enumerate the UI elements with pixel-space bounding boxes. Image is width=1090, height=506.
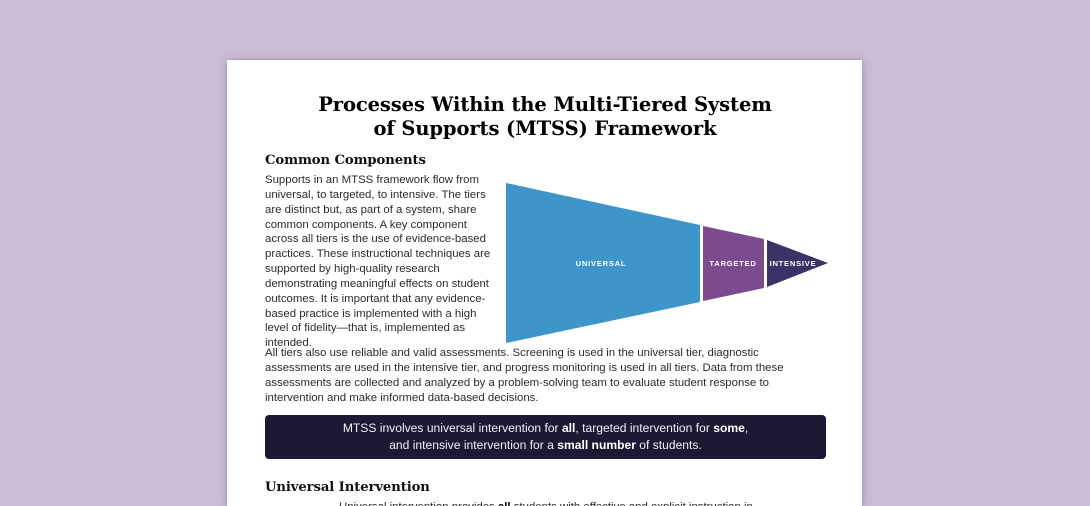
callout-line1-part-b: , targeted intervention for [575, 421, 713, 435]
section-heading-universal-intervention: Universal Intervention [265, 480, 430, 495]
document-card: Processes Within the Multi-Tiered System… [227, 60, 862, 506]
clipped-line-bold-all: all [498, 501, 511, 506]
callout-line2-part-a: and intensive intervention for a [389, 438, 557, 452]
callout-bold-all: all [562, 421, 575, 435]
section-heading-common-components: Common Components [265, 153, 426, 168]
callout-bold-some: some [713, 421, 745, 435]
callout-box: MTSS involves universal intervention for… [265, 415, 826, 459]
callout-text: MTSS involves universal intervention for… [265, 420, 826, 454]
assessments-paragraph: All tiers also use reliable and valid as… [265, 346, 817, 406]
common-components-paragraph: Supports in an MTSS framework flow from … [265, 173, 498, 351]
callout-line-2: and intensive intervention for a small n… [277, 437, 814, 454]
page-title-line-1: Processes Within the Multi-Tiered System [265, 93, 825, 117]
universal-intervention-paragraph: Universal intervention provides all stud… [339, 500, 819, 506]
mtss-tier-triangle-diagram: UNIVERSAL TARGETED INTENSIVE [505, 182, 829, 344]
tier-label-targeted: TARGETED [709, 259, 756, 268]
page-title: Processes Within the Multi-Tiered System… [265, 93, 825, 140]
callout-line1-part-a: MTSS involves universal intervention for [343, 421, 562, 435]
page-stage: Processes Within the Multi-Tiered System… [0, 0, 1090, 506]
callout-line1-part-c: , [745, 421, 748, 435]
callout-bold-small-number: small number [557, 438, 636, 452]
clipped-line-prefix: Universal intervention provides [339, 501, 498, 506]
document-content: Processes Within the Multi-Tiered System… [227, 60, 862, 506]
callout-line2-part-b: of students. [636, 438, 702, 452]
page-title-line-2: of Supports (MTSS) Framework [265, 117, 825, 141]
tier-label-intensive: INTENSIVE [770, 259, 817, 268]
clipped-line-suffix: students with effective and explicit ins… [511, 501, 753, 506]
tier-label-universal: UNIVERSAL [576, 259, 627, 268]
callout-line-1: MTSS involves universal intervention for… [277, 420, 814, 437]
